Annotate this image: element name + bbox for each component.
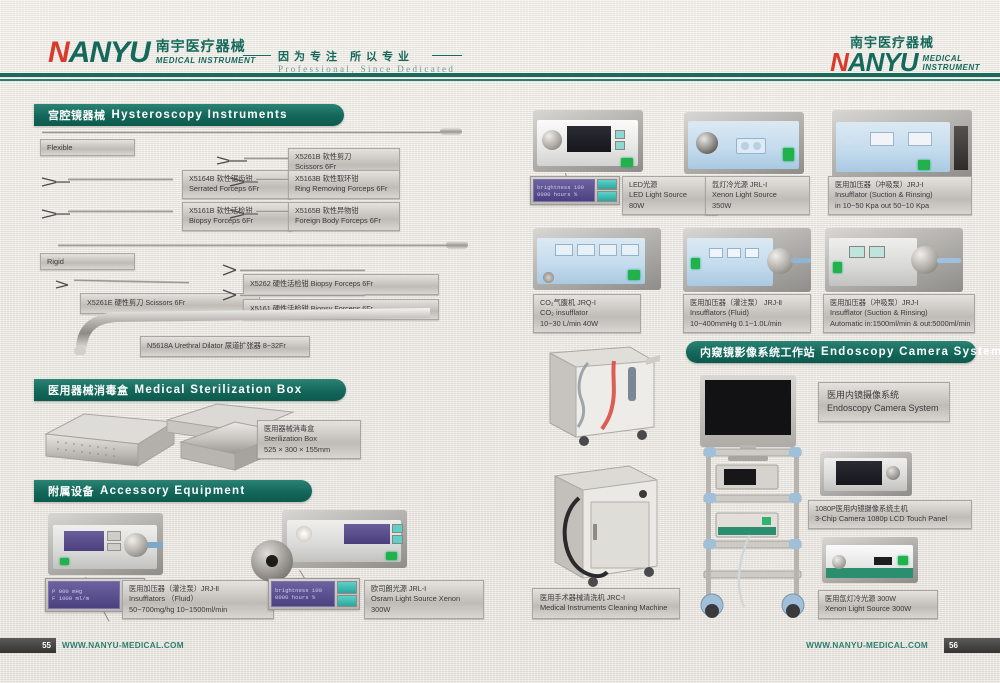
item-en-cleaning-machine: Medical Instruments Cleaning Machine — [540, 603, 672, 614]
item-spec-osram: 300W — [371, 605, 477, 616]
header-rule-secondary — [0, 79, 1000, 81]
item-en-suction-auto: Insufflator (Suction & Rinsing) — [830, 308, 968, 319]
item-plate-camera-system: 医用内镜摄像系统 Endoscopy Camera System — [818, 382, 950, 422]
brand-right-sub1: MEDICAL — [923, 54, 980, 63]
brand-right-wordmark-n: N — [830, 47, 848, 77]
inset-lcd-osram: brightness 100 0000 hours % — [271, 581, 335, 607]
brand-wordmark: NANYU — [48, 39, 150, 66]
item-plate-x5262: X5262 硬性活检钳 Biopsy Forceps 6Fr — [243, 274, 439, 295]
forceps-jaw-2 — [40, 206, 70, 216]
item-en-osram: Osram Light Source Xenon — [371, 594, 477, 605]
catalog-page: NANYU 南宇医疗器械 MEDICAL INSTRUMENT 因为专注 所以专… — [0, 0, 1000, 683]
cleaning-machine-lower-photo — [545, 458, 665, 593]
item-cn-x5165b: X5165B 软性异物钳 — [295, 206, 393, 216]
inset-lcd-insufflator: P 000 mHg F 1000 ml/m — [48, 581, 120, 609]
item-plate-x5163b: X5163B 软性取环钳 Ring Removing Forceps 6Fr — [288, 170, 400, 199]
cleaning-machine-upper-photo — [542, 345, 662, 455]
flexible-hysteroscope-eyepiece — [440, 128, 462, 135]
camera-system-monitor — [700, 375, 796, 447]
item-plate-camera-host: 1080P医用内镜摄像系统主机 3-Chip Camera 1080p LCD … — [808, 500, 972, 529]
scissors-jaw-1 — [215, 152, 247, 162]
banner-en-accessory: Accessory Equipment — [100, 485, 246, 497]
light-guide-connector — [251, 540, 293, 582]
item-en-led: LED Light Source — [629, 190, 711, 201]
inset-lcd-line1-osram: brightness 100 — [275, 587, 331, 594]
slogan-chinese: 因为专注 所以专业 — [278, 48, 455, 64]
item-en-sterilization-box: Sterilization Box — [264, 434, 354, 445]
section-banner-hysteroscopy: 宫腔镜器械 Hysteroscopy Instruments — [34, 104, 344, 126]
item-en-suction-rinsing: Insufflator (Suction & Rinsing) — [835, 190, 965, 201]
section-banner-camera-system: 内窥镜影像系统工作站 Endoscopy Camera System — [686, 341, 976, 363]
group-label-flexible-text: Flexible — [47, 143, 72, 152]
inset-lcd-line2-led: 0000 hours % — [537, 191, 591, 198]
item-cn-camera-system: 医用内镜摄像系统 — [827, 389, 941, 402]
footer-url-left-text: WWW.NANYU-MEDICAL.COM — [62, 641, 184, 650]
item-spec-xenon-top: 350W — [712, 201, 803, 212]
brand-wordmark-rest: ANYU — [69, 36, 150, 69]
item-cn-xenon-300w: 医用氙灯冷光源 300W — [825, 594, 931, 604]
rigid-scissors-shaft — [74, 279, 189, 284]
brand-chinese-name: 南宇医疗器械 — [156, 36, 256, 56]
device-suction-rinsing-auto — [825, 228, 963, 292]
device-suction-rinsing-insufflator — [832, 110, 972, 178]
item-cn-fluid-insufflator: 医用加压器（灌注泵）JRJ-Ⅱ — [129, 584, 267, 594]
item-en-xenon-top: Xenon Light Source — [712, 190, 803, 201]
banner-en-sterilization: Medical Sterilization Box — [135, 384, 303, 396]
item-plate-fluid-insufflator-2: 医用加压器（灌注泵） JRJ-Ⅱ Insufflators (Fluid) 10… — [683, 294, 811, 333]
device-xenon-300w — [822, 537, 918, 583]
forceps-jaw-3 — [228, 174, 258, 184]
group-label-flexible: Flexible — [40, 139, 135, 156]
inset-panel-led: brightness 100 0000 hours % — [530, 176, 620, 205]
item-plate-led-light-source: LED光源 LED Light Source 80W — [622, 176, 718, 215]
item-plate-suction-rinsing: 医用加压器（冲吸泵）JRJ-Ⅰ Insufflator (Suction & R… — [828, 176, 972, 215]
item-cn-camera-host: 1080P医用内镜摄像系统主机 — [815, 504, 965, 514]
inset-lcd-led: brightness 100 0000 hours % — [533, 179, 595, 202]
forceps-shaft-1 — [68, 178, 173, 181]
group-label-rigid: Rigid — [40, 253, 135, 270]
device-xenon-light-source — [684, 112, 804, 174]
item-en-co2: CO₂ insufflator — [540, 308, 634, 319]
item-cn-suction-rinsing: 医用加压器（冲吸泵）JRJ-Ⅰ — [835, 180, 965, 190]
item-plate-co2-insufflator: CO₂气腹机 JRQ-Ⅰ CO₂ insufflator 10~30 L/min… — [533, 294, 641, 333]
inset-lcd-line1-insufflator: P 000 mHg — [52, 588, 116, 595]
item-spec-suction-rinsing: in 10~50 Kpa out 50~10 Kpa — [835, 201, 965, 212]
rigid-hysteroscope-shaft — [58, 244, 448, 247]
item-en-camera-system: Endoscopy Camera System — [827, 402, 941, 415]
slogan-dash-left — [243, 55, 271, 56]
brand-wordmark-n: N — [48, 36, 69, 69]
inset-lcd-line1-led: brightness 100 — [537, 184, 591, 191]
footer-page-no-left-text: 55 — [42, 641, 51, 650]
rigid-biopsy-shaft-1 — [240, 269, 365, 272]
item-spec-suction-auto: Automatic in:1500ml/min & out:5000ml/min — [830, 319, 968, 330]
item-en-fluid-insufflator: Insufflators （Fluid） — [129, 594, 267, 605]
item-cn-x5262: X5262 硬性活检钳 Biopsy Forceps 6Fr — [250, 279, 373, 288]
forceps-jaw-1 — [40, 174, 70, 184]
item-spec-fluid-insufflator: 50~700mg/hg 10~1500ml/min — [129, 605, 267, 616]
item-plate-xenon-light-source: 氙灯冷光源 JRL-Ⅰ Xenon Light Source 350W — [705, 176, 810, 215]
item-cn-co2: CO₂气腹机 JRQ-Ⅰ — [540, 298, 634, 308]
item-plate-xenon-300w: 医用氙灯冷光源 300W Xenon Light Source 300W — [818, 590, 938, 619]
banner-cn-hysteroscopy: 宫腔镜器械 — [48, 107, 106, 123]
item-cn-dilator: N5618A Urethral Dilator 尿道扩张器 8~32Fr — [147, 341, 286, 350]
item-cn-led: LED光源 — [629, 180, 711, 190]
item-plate-x5165b: X5165B 软性异物钳 Foreign Body Forceps 6Fr — [288, 202, 400, 231]
item-en-x5165b: Foreign Body Forceps 6Fr — [295, 216, 393, 227]
item-spec-co2: 10~30 L/min 40W — [540, 319, 634, 330]
inset-lcd-line2-osram: 0000 hours % — [275, 594, 331, 601]
item-cn-osram: 欧司朗光源 JRL-Ⅰ — [371, 584, 477, 594]
item-plate-suction-rinsing-auto: 医用加压器（冲吸泵）JRJ-Ⅰ Insufflator (Suction & R… — [823, 294, 975, 333]
footer-url-left[interactable]: WWW.NANYU-MEDICAL.COM — [62, 638, 184, 653]
banner-cn-accessory: 附属设备 — [48, 483, 94, 499]
banner-cn-camera: 内窥镜影像系统工作站 — [700, 344, 815, 360]
device-camera-host — [820, 452, 912, 496]
section-banner-sterilization: 医用器械消毒盒 Medical Sterilization Box — [34, 379, 346, 401]
footer-page-no-right-text: 56 — [949, 641, 958, 650]
item-cn-suction-auto: 医用加压器（冲吸泵）JRJ-Ⅰ — [830, 298, 968, 308]
item-cn-x5163b: X5163B 软性取环钳 — [295, 174, 393, 184]
footer-page-number-left: 55 — [0, 638, 56, 653]
brand-right-sub2: INSTRUMENT — [923, 63, 980, 72]
item-plate-cleaning-machine: 医用手术器械清洗机 JRC-Ⅰ Medical Instruments Clea… — [532, 588, 680, 619]
device-led-light-source — [533, 110, 643, 172]
item-cn-x5261b: X5261B 软性剪刀 — [295, 152, 393, 162]
item-en-camera-host: 3-Chip Camera 1080p LCD Touch Panel — [815, 514, 965, 525]
brand-logo-right: 南宇医疗器械 NANYU MEDICAL INSTRUMENT — [830, 32, 980, 74]
brand-logo-left: NANYU 南宇医疗器械 MEDICAL INSTRUMENT — [48, 36, 256, 66]
inset-lcd-line2-insufflator: F 1000 ml/m — [52, 595, 116, 602]
banner-cn-sterilization: 医用器械消毒盒 — [48, 382, 129, 398]
rigid-biopsy-shaft-2 — [240, 294, 365, 297]
item-size-sterilization-box: 525 × 300 × 155mm — [264, 445, 354, 456]
item-plate-osram: 欧司朗光源 JRL-Ⅰ Osram Light Source Xenon 300… — [364, 580, 484, 619]
forceps-jaw-4 — [228, 206, 258, 216]
banner-en-camera: Endoscopy Camera System — [821, 346, 1000, 358]
slogan-dash-right — [432, 55, 462, 56]
item-en-x5163b: Ring Removing Forceps 6Fr — [295, 184, 393, 195]
inset-panel-osram: brightness 100 0000 hours % — [268, 578, 360, 610]
item-spec-led: 80W — [629, 201, 711, 212]
device-fluid-insufflator — [48, 513, 163, 575]
flexible-hysteroscope-shaft — [42, 131, 442, 134]
item-cn-sterilization-box: 医用器械消毒盒 — [264, 424, 354, 434]
section-banner-accessory: 附属设备 Accessory Equipment — [34, 480, 312, 502]
item-cn-cleaning-machine: 医用手术器械清洗机 JRC-Ⅰ — [540, 593, 672, 603]
device-co2-insufflator — [533, 228, 661, 290]
item-spec-fluid-2: 10~400mmHg 0.1~1.0L/min — [690, 319, 804, 330]
inset-buttons-led[interactable] — [595, 179, 617, 202]
item-cn-xenon-top: 氙灯冷光源 JRL-Ⅰ — [712, 180, 803, 190]
item-plate-fluid-insufflator: 医用加压器（灌注泵）JRJ-Ⅱ Insufflators （Fluid） 50~… — [122, 580, 274, 619]
brand-right-wordmark-rest: ANYU — [848, 47, 918, 77]
footer-url-right-text: WWW.NANYU-MEDICAL.COM — [806, 641, 928, 650]
device-fluid-insufflator-2 — [683, 228, 811, 292]
item-cn-fluid-2: 医用加压器（灌注泵） JRJ-Ⅱ — [690, 298, 804, 308]
rigid-hysteroscope-eyepiece — [446, 241, 468, 249]
item-en-xenon-300w: Xenon Light Source 300W — [825, 604, 931, 615]
footer-url-right[interactable]: WWW.NANYU-MEDICAL.COM — [806, 638, 928, 653]
sterilization-box-closed-photo — [40, 408, 180, 478]
brand-subtitle: MEDICAL INSTRUMENT — [156, 56, 256, 65]
footer-page-number-right: 56 — [944, 638, 1000, 653]
banner-en-hysteroscopy: Hysteroscopy Instruments — [112, 109, 288, 121]
camera-system-trolley — [690, 443, 815, 626]
group-label-rigid-text: Rigid — [47, 257, 64, 266]
brand-right-wordmark: NANYU — [830, 51, 917, 74]
device-osram-light-source — [282, 510, 407, 568]
inset-buttons-osram[interactable] — [335, 581, 357, 607]
item-en-fluid-2: Insufflators (Fluid) — [690, 308, 804, 319]
slogan-block: 因为专注 所以专业 Professional, Since Dedicated — [278, 48, 455, 74]
forceps-shaft-2 — [68, 210, 173, 213]
slogan-english: Professional, Since Dedicated — [278, 64, 455, 74]
item-plate-dilator: N5618A Urethral Dilator 尿道扩张器 8~32Fr — [140, 336, 310, 357]
item-plate-sterilization-box: 医用器械消毒盒 Sterilization Box 525 × 300 × 15… — [257, 420, 361, 459]
